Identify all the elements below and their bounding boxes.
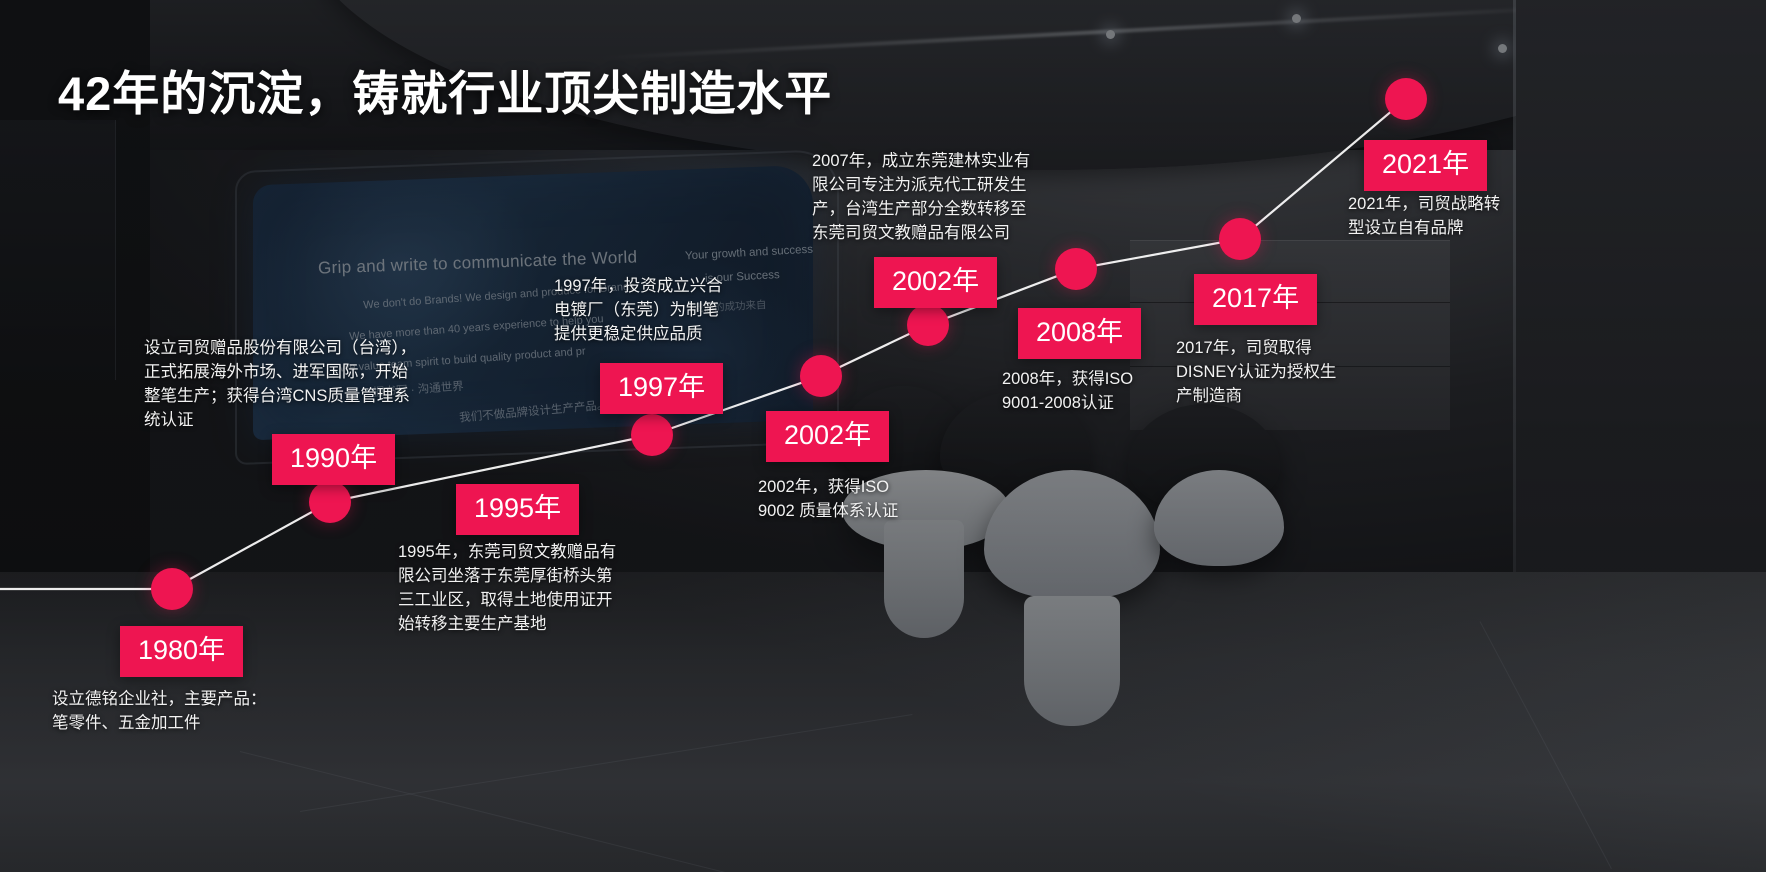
timeline-dot-1995[interactable] (631, 414, 673, 456)
milestone-description-1990: 设立司贸赠品股份有限公司（台湾）， 正式拓展海外市场、进军国际，开始 整笔生产；… (144, 337, 416, 433)
year-badge-2008[interactable]: 2008年 (1018, 308, 1141, 359)
year-badge-2007[interactable]: 2002年 (874, 257, 997, 308)
milestone-description-2007: 2007年，成立东莞建林实业有 限公司专注为派克代工研发生 产，台湾生产部分全数… (812, 150, 1030, 246)
year-badge-2021[interactable]: 2021年 (1364, 140, 1487, 191)
year-badge-1995[interactable]: 1995年 (456, 484, 579, 535)
timeline-dot-2017[interactable] (1385, 78, 1427, 120)
timeline-dot-2007[interactable] (1055, 248, 1097, 290)
milestone-description-2021: 2021年，司贸战略转 型设立自有品牌 (1348, 193, 1500, 241)
milestone-description-1980: 设立德铭企业社，主要产品： 笔零件、五金加工件 (52, 688, 267, 736)
year-badge-2017[interactable]: 2017年 (1194, 274, 1317, 325)
timeline-dot-1980[interactable] (151, 568, 193, 610)
slide-canvas: Grip and write to communicate the World … (0, 0, 1766, 872)
milestone-description-1995: 1995年，东莞司贸文教赠品有 限公司坐落于东莞厚街桥头第 三工业区，取得土地使… (398, 541, 616, 637)
timeline-dot-2002-lower[interactable] (907, 304, 949, 346)
timeline-dot-2008[interactable] (1219, 218, 1261, 260)
year-badge-1990[interactable]: 1990年 (272, 434, 395, 485)
milestone-description-2002-lower: 2002年，获得ISO 9002 质量体系认证 (758, 476, 898, 524)
timeline-dot-1997[interactable] (800, 355, 842, 397)
year-badge-1980[interactable]: 1980年 (120, 626, 243, 677)
milestone-description-1997: 1997年，投资成立兴合 电镀厂（东莞）为制笔 提供更稳定供应品质 (554, 275, 723, 347)
timeline-dot-1990[interactable] (309, 481, 351, 523)
year-badge-1997[interactable]: 1997年 (600, 363, 723, 414)
year-badge-2002-lower[interactable]: 2002年 (766, 411, 889, 462)
milestone-description-2008: 2008年，获得ISO 9001-2008认证 (1002, 368, 1133, 416)
milestone-description-2017: 2017年，司贸取得 DISNEY认证为授权生 产制造商 (1176, 337, 1336, 409)
